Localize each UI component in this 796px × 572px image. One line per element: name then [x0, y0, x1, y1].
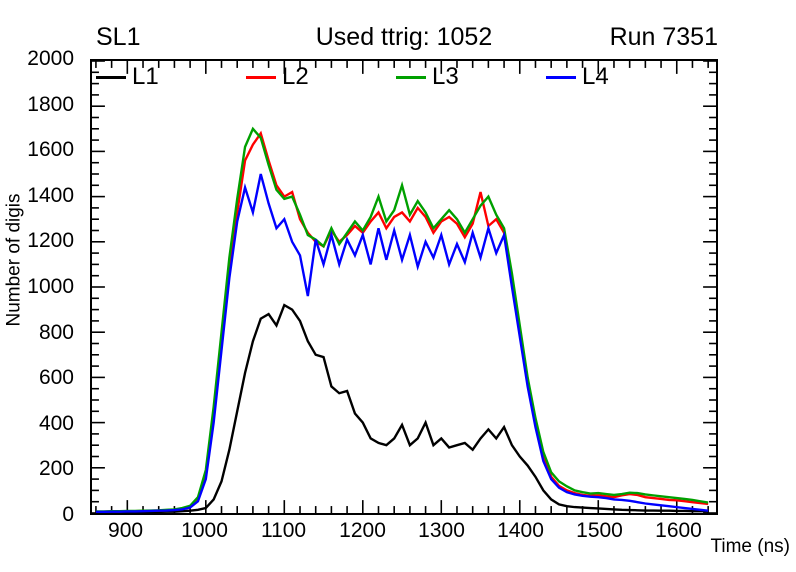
- x-tick-label: 1000: [181, 519, 228, 543]
- legend-label: L1: [132, 65, 159, 89]
- y-tick-label: 1200: [27, 229, 74, 253]
- data-series-l2: [96, 133, 708, 511]
- data-series-l3: [96, 129, 708, 512]
- plot-legend: L1L2L3L4: [96, 62, 696, 92]
- legend-entry-l1[interactable]: L1: [96, 65, 246, 89]
- y-tick-label: 1600: [27, 138, 74, 162]
- y-tick-label: 800: [39, 321, 74, 345]
- y-axis-title: Number of digis: [0, 0, 30, 520]
- legend-entry-l2[interactable]: L2: [246, 65, 396, 89]
- plot-header: SL1 Used ttrig: 1052 Run 7351: [90, 22, 718, 54]
- header-sl-label: SL1: [96, 22, 140, 52]
- legend-line-swatch-l1: [96, 76, 126, 79]
- x-tick-label: 1600: [655, 519, 702, 543]
- y-tick-label: 1400: [27, 184, 74, 208]
- y-tick-label: 2000: [27, 47, 74, 71]
- data-series-l1: [96, 305, 708, 512]
- legend-entry-l4[interactable]: L4: [546, 65, 696, 89]
- legend-label: L4: [582, 65, 609, 89]
- y-axis-title-text: Number of digis: [4, 193, 26, 326]
- root-plot-canvas: SL1 Used ttrig: 1052 Run 7351 Number of …: [0, 0, 796, 572]
- x-tick-label: 900: [108, 519, 143, 543]
- x-tick-label: 1300: [418, 519, 465, 543]
- data-series-layer: [96, 129, 708, 513]
- legend-line-swatch-l2: [246, 76, 276, 79]
- y-tick-label: 1800: [27, 93, 74, 117]
- x-tick-label: 1500: [576, 519, 623, 543]
- legend-line-swatch-l4: [546, 76, 576, 79]
- y-tick-label: 200: [39, 457, 74, 481]
- header-run-label: Run 7351: [610, 22, 718, 52]
- legend-entry-l3[interactable]: L3: [396, 65, 546, 89]
- y-tick-label: 400: [39, 412, 74, 436]
- header-ttrig-label: Used ttrig: 1052: [316, 22, 493, 52]
- x-tick-label: 1400: [497, 519, 544, 543]
- data-series-l4: [96, 174, 708, 512]
- plot-svg: [92, 61, 716, 513]
- y-tick-label: 1000: [27, 275, 74, 299]
- x-tick-label: 1200: [339, 519, 386, 543]
- x-axis-title: Time (ns): [710, 536, 790, 558]
- legend-label: L2: [282, 65, 309, 89]
- y-tick-label: 0: [62, 503, 74, 527]
- legend-label: L3: [432, 65, 459, 89]
- legend-line-swatch-l3: [396, 76, 426, 79]
- plot-frame: [90, 59, 718, 515]
- x-tick-label: 1100: [261, 519, 306, 543]
- y-tick-label: 600: [39, 366, 74, 390]
- axis-ticks: [92, 61, 716, 513]
